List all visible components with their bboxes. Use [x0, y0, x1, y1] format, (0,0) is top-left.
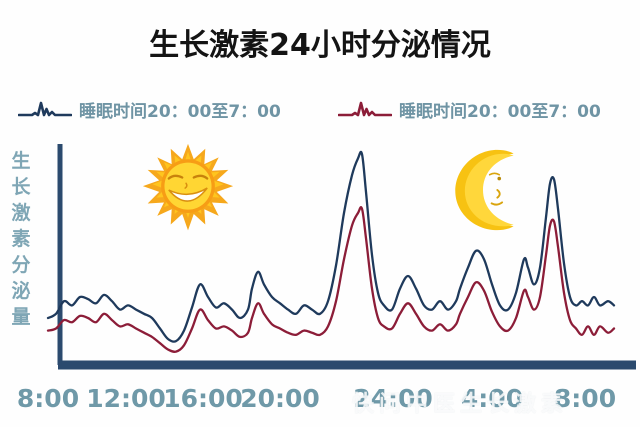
x-tick-label-6: 8:00: [554, 384, 616, 413]
y-axis-label-char-6: 量: [6, 304, 36, 330]
y-axis-label-char-4: 分: [6, 252, 36, 278]
chart-legend: 睡眠时间20：00至7：00 睡眠时间20：00至7：00: [0, 94, 640, 124]
x-tick-label-5: 4:00: [461, 384, 523, 413]
x-tick-label-4: 24:00: [353, 384, 433, 413]
y-axis-label-char-1: 长: [6, 174, 36, 200]
x-axis-labels: 8:00 12:00 16:00 20:00 24:00 4:00 8:00: [0, 384, 640, 418]
y-axis-label-char-0: 生: [6, 148, 36, 174]
x-tick-label-3: 20:00: [240, 384, 320, 413]
x-tick-label-2: 16:00: [163, 384, 243, 413]
y-axis-label-char-2: 激: [6, 200, 36, 226]
y-axis-label: 生 长 激 素 分 泌 量: [6, 148, 36, 330]
peak-line-icon: [18, 96, 72, 122]
plot-area: [40, 138, 640, 378]
legend-item-1[interactable]: 睡眠时间20：00至7：00: [338, 94, 601, 124]
crescent-moon-face-icon: [440, 146, 526, 234]
y-axis-label-char-5: 泌: [6, 278, 36, 304]
chart-series: [48, 152, 614, 352]
series-line-0: [48, 152, 614, 342]
page-title: 生长激素24小时分泌情况: [0, 28, 640, 64]
peak-line-icon: [338, 96, 392, 122]
legend-label-1: 睡眠时间20：00至7：00: [399, 97, 601, 122]
x-tick-label-1: 12:00: [86, 384, 166, 413]
line-chart: [40, 138, 640, 378]
legend-item-0[interactable]: 睡眠时间20：00至7：00: [18, 94, 281, 124]
legend-label-0: 睡眠时间20：00至7：00: [79, 97, 281, 122]
series-line-1: [48, 207, 614, 352]
y-axis-label-char-3: 素: [6, 226, 36, 252]
chart-page: 生长激素24小时分泌情况 睡眠时间20：00至7：00 睡眠时间20：00至7：…: [0, 0, 640, 427]
sun-face-icon: [140, 142, 236, 238]
x-tick-label-0: 8:00: [17, 384, 79, 413]
